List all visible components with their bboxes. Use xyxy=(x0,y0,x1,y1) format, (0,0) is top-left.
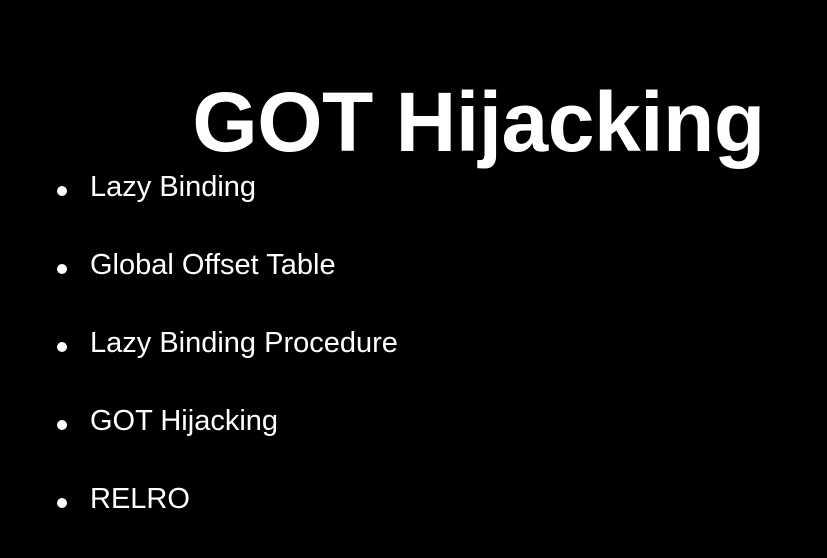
list-item: Lazy Binding xyxy=(0,168,827,246)
presentation-slide: GOT Hijacking Lazy Binding Global Offset… xyxy=(0,0,827,546)
list-item: RELRO xyxy=(0,480,827,558)
list-item-label: Global Offset Table xyxy=(90,246,336,284)
list-item-label: Lazy Binding Procedure xyxy=(90,324,398,362)
bullet-dot-icon xyxy=(57,264,67,274)
list-item-label: Lazy Binding xyxy=(90,168,256,206)
list-item-label: RELRO xyxy=(90,480,190,518)
list-item-label: GOT Hijacking xyxy=(90,402,278,440)
list-item: GOT Hijacking xyxy=(0,402,827,480)
bullet-dot-icon xyxy=(57,186,67,196)
list-item: Lazy Binding Procedure xyxy=(0,324,827,402)
bullet-list: Lazy Binding Global Offset Table Lazy Bi… xyxy=(0,168,827,558)
bullet-dot-icon xyxy=(57,420,67,430)
page-title: GOT Hijacking xyxy=(0,78,827,166)
list-item: Global Offset Table xyxy=(0,246,827,324)
bullet-dot-icon xyxy=(57,342,67,352)
bullet-dot-icon xyxy=(57,498,67,508)
